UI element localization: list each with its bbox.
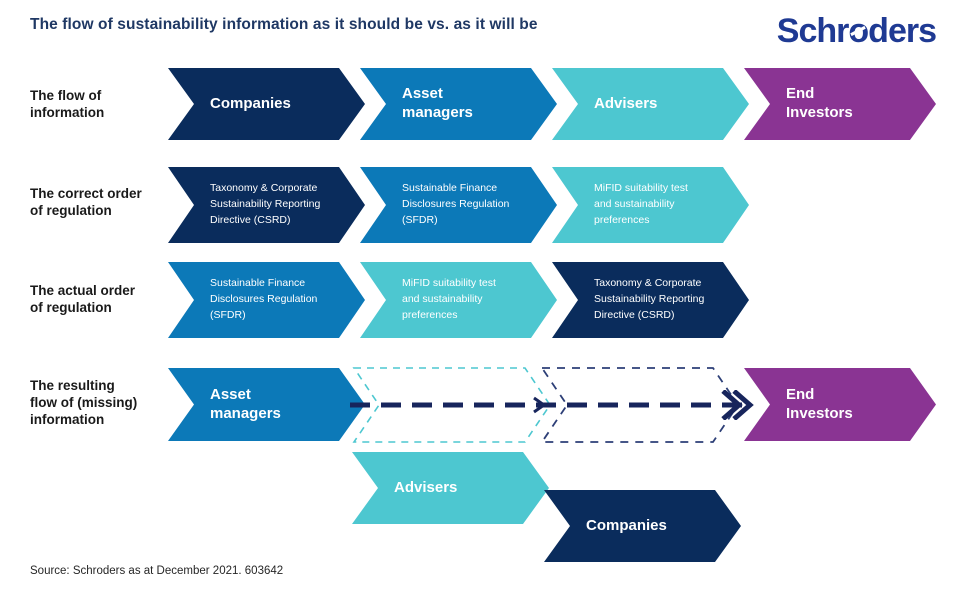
chevron-label-line: Investors: [786, 104, 853, 121]
chevron-companies-row1[interactable]: Companies: [168, 68, 365, 140]
chevron-label-line: Taxonomy & Corporate: [594, 277, 701, 289]
chevron-csrd-row2[interactable]: Taxonomy & CorporateSustainability Repor…: [168, 167, 365, 243]
row-label-line: of regulation: [30, 203, 180, 220]
logo-text-before: Schr: [777, 12, 849, 50]
chevron-label: Assetmanagers: [168, 386, 291, 424]
chevron-mifid-row2[interactable]: MiFID suitability testand sustainability…: [552, 167, 749, 243]
chevron-label-line: Sustainability Reporting: [210, 198, 320, 210]
chevron-label-line: and sustainability: [402, 293, 483, 305]
chevron-label: Companies: [544, 517, 677, 536]
chevron-label-line: Sustainable Finance: [402, 182, 497, 194]
chevron-sfdr-row2[interactable]: Sustainable FinanceDisclosures Regulatio…: [360, 167, 557, 243]
dashed-flow-arrow: [348, 390, 768, 425]
chevron-label-line: Disclosures Regulation: [402, 198, 509, 210]
chevron-label-line: MiFID suitability test: [402, 277, 496, 289]
chevron-label-line: managers: [402, 104, 473, 121]
chevron-label-line: preferences: [594, 214, 649, 226]
chevron-label: Sustainable FinanceDisclosures Regulatio…: [360, 181, 519, 228]
chevron-label-line: MiFID suitability test: [594, 182, 688, 194]
chevron-end-investors-row4[interactable]: EndInvestors: [744, 368, 936, 441]
chevron-label-line: End: [786, 386, 814, 403]
chevron-label-line: Directive (CSRD): [210, 214, 291, 226]
chevron-label-line: Sustainable Finance: [210, 277, 305, 289]
chevron-label-line: Taxonomy & Corporate: [210, 182, 317, 194]
chevron-mifid-row3[interactable]: MiFID suitability testand sustainability…: [360, 262, 557, 338]
chevron-companies-row5[interactable]: Companies: [544, 490, 741, 562]
chevron-label: Taxonomy & CorporateSustainability Repor…: [552, 276, 714, 323]
chevron-csrd-row3[interactable]: Taxonomy & CorporateSustainability Repor…: [552, 262, 749, 338]
chevron-label-line: Directive (CSRD): [594, 309, 675, 321]
chevron-advisers-row1[interactable]: Advisers: [552, 68, 749, 140]
chevron-label-line: Asset: [402, 85, 443, 102]
row-label-line: information: [30, 412, 180, 429]
row-label-line: of regulation: [30, 300, 180, 317]
row-label-actual-order-of-regulation: The actual order of regulation: [30, 283, 180, 317]
chevron-advisers-row5[interactable]: Advisers: [352, 452, 549, 524]
row-label-line: The flow of: [30, 88, 180, 105]
chevron-label: Taxonomy & CorporateSustainability Repor…: [168, 181, 330, 228]
chevron-label: Companies: [168, 95, 301, 114]
row-label-correct-order-of-regulation: The correct order of regulation: [30, 186, 180, 220]
chevron-label-line: End: [786, 85, 814, 102]
row-label-line: flow of (missing): [30, 395, 180, 412]
chevron-label-line: (SFDR): [210, 309, 246, 321]
row-label-line: The resulting: [30, 378, 180, 395]
chevron-label-line: Asset: [210, 386, 251, 403]
chevron-end-investors-row1[interactable]: EndInvestors: [744, 68, 936, 140]
chevron-label: EndInvestors: [744, 85, 863, 123]
logo-text-after: ders: [868, 12, 936, 50]
chevron-sfdr-row3[interactable]: Sustainable FinanceDisclosures Regulatio…: [168, 262, 365, 338]
chevron-label-line: Investors: [786, 405, 853, 422]
chevron-label-line: Disclosures Regulation: [210, 293, 317, 305]
chevron-asset-managers-row4[interactable]: Assetmanagers: [168, 368, 365, 441]
row-label-line: The actual order: [30, 283, 180, 300]
chevron-label: Assetmanagers: [360, 85, 483, 123]
chevron-label: Advisers: [352, 479, 467, 498]
schroders-logo: Schroders: [777, 14, 936, 48]
logo-o-ring: o: [848, 14, 868, 48]
chevron-label: MiFID suitability testand sustainability…: [552, 181, 698, 228]
row-label-line: The correct order: [30, 186, 180, 203]
chevron-label: MiFID suitability testand sustainability…: [360, 276, 506, 323]
source-note: Source: Schroders as at December 2021. 6…: [30, 565, 283, 577]
row-label-resulting-flow-of-missing-information: The resulting flow of (missing) informat…: [30, 378, 180, 429]
page-title: The flow of sustainability information a…: [30, 16, 730, 34]
chevron-label: Advisers: [552, 95, 667, 114]
chevron-label: Sustainable FinanceDisclosures Regulatio…: [168, 276, 327, 323]
chevron-label-line: managers: [210, 405, 281, 422]
chevron-asset-managers-row1[interactable]: Assetmanagers: [360, 68, 557, 140]
chevron-label-line: Sustainability Reporting: [594, 293, 704, 305]
chevron-label-line: and sustainability: [594, 198, 675, 210]
row-label-line: information: [30, 105, 180, 122]
chevron-label-line: preferences: [402, 309, 457, 321]
row-label-flow-of-information: The flow of information: [30, 88, 180, 122]
chevron-label-line: (SFDR): [402, 214, 438, 226]
